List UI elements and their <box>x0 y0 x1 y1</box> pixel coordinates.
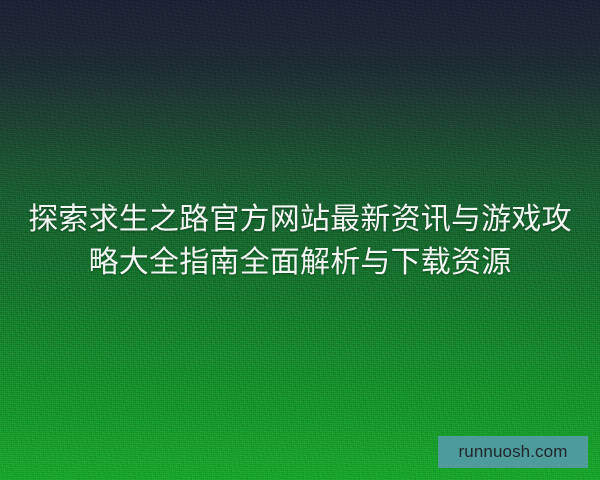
watermark-url-label: runnuosh.com <box>459 442 568 462</box>
headline-text: 探索求生之路官方网站最新资讯与游戏攻略大全指南全面解析与下载资源 <box>0 198 600 284</box>
banner-image: 探索求生之路官方网站最新资讯与游戏攻略大全指南全面解析与下载资源 runnuos… <box>0 0 600 480</box>
watermark-badge: runnuosh.com <box>438 436 588 468</box>
